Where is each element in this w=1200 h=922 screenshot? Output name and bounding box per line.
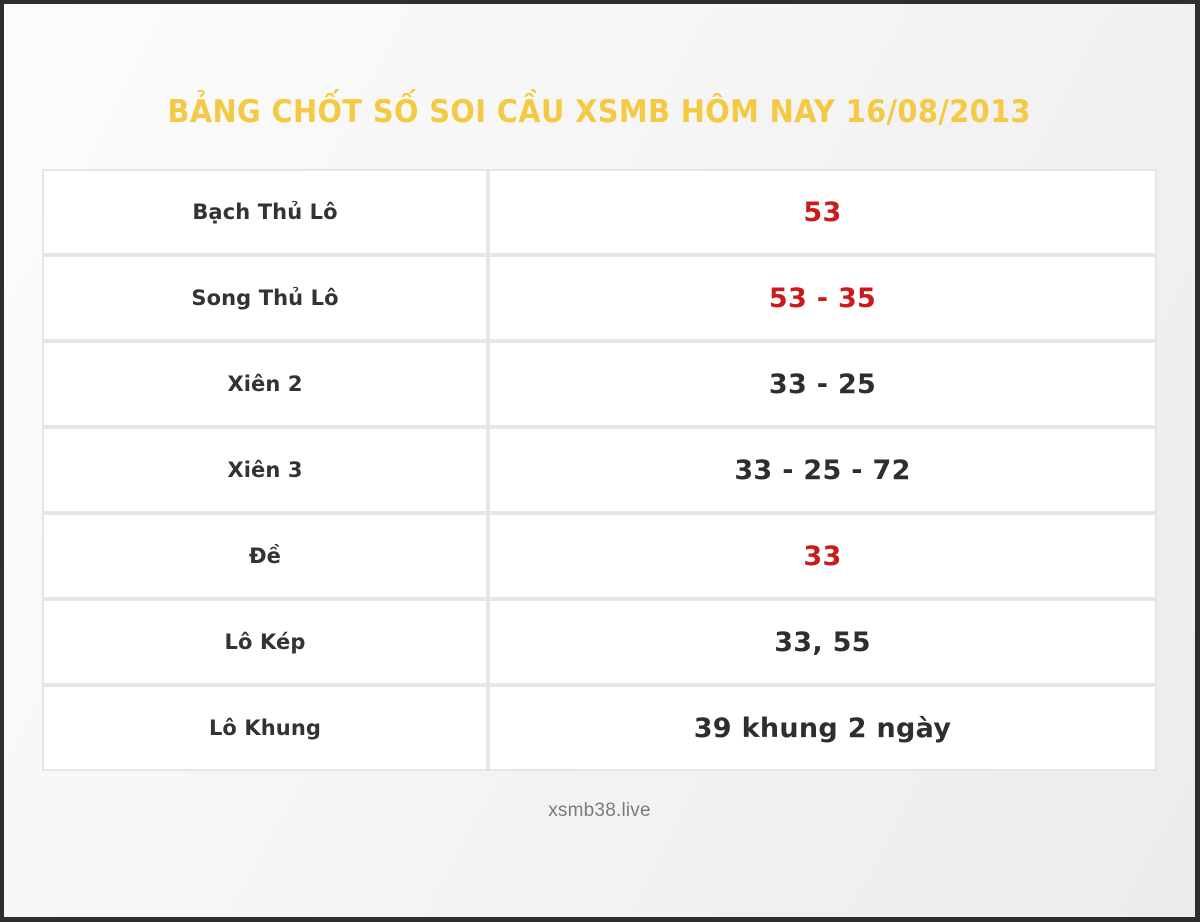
- result-card: BẢNG CHỐT SỐ SOI CẦU XSMB HÔM NAY 16/08/…: [4, 4, 1195, 917]
- row-value: 39 khung 2 ngày: [488, 685, 1157, 771]
- row-label: Xiên 3: [42, 427, 488, 513]
- row-label: Lô Kép: [42, 599, 488, 685]
- table-row: Lô Khung 39 khung 2 ngày: [42, 685, 1157, 771]
- table-row: Lô Kép 33, 55: [42, 599, 1157, 685]
- row-value: 33 - 25: [488, 341, 1157, 427]
- row-label: Đề: [42, 513, 488, 599]
- table-row: Đề 33: [42, 513, 1157, 599]
- row-value: 53 - 35: [488, 255, 1157, 341]
- row-label: Song Thủ Lô: [42, 255, 488, 341]
- table-row: Xiên 2 33 - 25: [42, 341, 1157, 427]
- prediction-table-body: Bạch Thủ Lô 53 Song Thủ Lô 53 - 35 Xiên …: [42, 169, 1157, 771]
- screenshot-frame: BẢNG CHỐT SỐ SOI CẦU XSMB HÔM NAY 16/08/…: [0, 0, 1200, 922]
- table-row: Xiên 3 33 - 25 - 72: [42, 427, 1157, 513]
- row-label: Bạch Thủ Lô: [42, 169, 488, 255]
- page-title: BẢNG CHỐT SỐ SOI CẦU XSMB HÔM NAY 16/08/…: [168, 97, 1031, 128]
- table-row: Song Thủ Lô 53 - 35: [42, 255, 1157, 341]
- row-label: Lô Khung: [42, 685, 488, 771]
- site-credit: xsmb38.live: [548, 800, 651, 822]
- prediction-table: Bạch Thủ Lô 53 Song Thủ Lô 53 - 35 Xiên …: [42, 169, 1157, 771]
- row-value: 33 - 25 - 72: [488, 427, 1157, 513]
- row-label: Xiên 2: [42, 341, 488, 427]
- table-row: Bạch Thủ Lô 53: [42, 169, 1157, 255]
- row-value: 53: [488, 169, 1157, 255]
- row-value: 33, 55: [488, 599, 1157, 685]
- row-value: 33: [488, 513, 1157, 599]
